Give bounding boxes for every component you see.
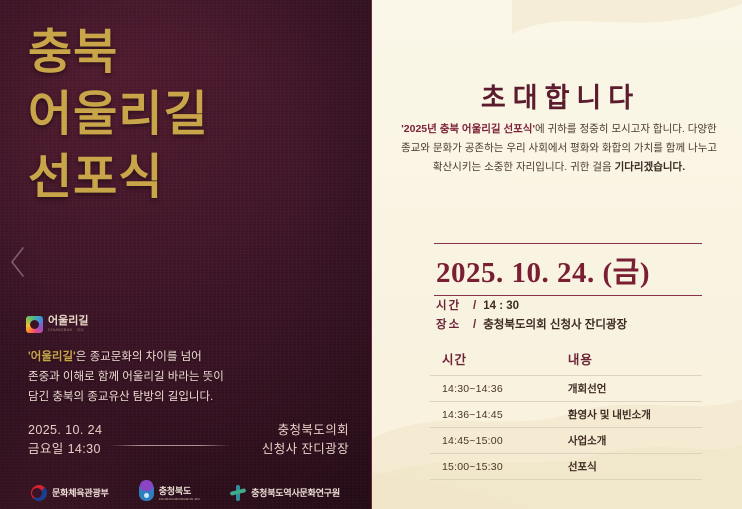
- detail-label: 시간: [436, 297, 470, 316]
- event-details: 시간 / 14 : 30 장소 / 충청북도의회 신청사 잔디광장: [436, 297, 627, 334]
- eoullligil-circle-logo-icon: [26, 316, 43, 333]
- sponsor-name: 충청북도역사문화연구원: [251, 486, 340, 499]
- top-wave-decoration: [512, 0, 742, 54]
- detail-row-time: 시간 / 14 : 30: [436, 297, 627, 316]
- cell-content: 선포식: [558, 454, 702, 480]
- sponsor-name: 문화체육관광부: [52, 486, 109, 499]
- footer-venue: 충청북도의회 신청사 잔디광장: [262, 421, 349, 460]
- chevron-left-icon[interactable]: [7, 245, 29, 279]
- mcst-taegeuk-logo-icon: [31, 485, 47, 501]
- sponsor-logo: 충청북도역사문화연구원: [230, 485, 340, 501]
- cell-content: 개회선언: [558, 376, 702, 402]
- invitation-part1: 에 귀하를 정중히 모시고자 합니다.: [535, 123, 685, 135]
- schedule-table-head: 시간 내용: [430, 348, 702, 376]
- table-row: 14:30~14:36 개회선언: [430, 376, 702, 402]
- sponsor-name-text: 충청북도: [159, 486, 191, 496]
- chungbuk-history-culture-institute-logo-icon: [230, 485, 246, 501]
- chungbuk-province-logo-icon: [139, 484, 154, 501]
- cell-content: 사업소개: [558, 428, 702, 454]
- brand-name: 어울리길: [48, 316, 88, 327]
- left-footer-block: 2025. 10. 24 금요일 14:30 충청북도의회 신청사 잔디광장: [0, 421, 371, 461]
- sponsor-name: 충청북도 CHUNGCHEONGBUK-DO: [159, 484, 200, 501]
- date-rule-bottom: [434, 295, 702, 296]
- poster-right-panel: 초대합니다 '2025년 충북 어울리길 선포식'에 귀하를 정중히 모시고자 …: [371, 0, 742, 509]
- event-date: 2025. 10. 24. (금): [434, 244, 702, 295]
- schedule-table-wrap: 시간 내용 14:30~14:36 개회선언 14:36~14:45 환영사 및…: [430, 348, 702, 480]
- poster-left-panel: 충북 어울리길 선포식 어울리길 CHUNGBUK · GIL '어울리길'은 …: [0, 0, 371, 509]
- footer-date: 2025. 10. 24 금요일 14:30: [28, 421, 102, 460]
- invitation-heading: 초대합니다: [372, 76, 742, 115]
- invitation-event-name: '2025년 충북 어울리길 선포식': [401, 123, 535, 135]
- detail-value: 14 : 30: [483, 297, 519, 316]
- page-title: 충북 어울리길 선포식: [28, 22, 209, 209]
- detail-label: 장소: [436, 316, 470, 335]
- column-header-content: 내용: [558, 348, 702, 376]
- column-header-time: 시간: [430, 348, 558, 376]
- sponsor-logo: 충청북도 CHUNGCHEONGBUK-DO: [139, 484, 200, 501]
- footer-divider: [110, 445, 230, 446]
- sponsor-logo-bar: 문화체육관광부 충청북도 CHUNGCHEONGBUK-DO 충청북도역사문화연…: [0, 484, 371, 501]
- table-row: 15:00~15:30 선포식: [430, 454, 702, 480]
- detail-value: 충청북도의회 신청사 잔디광장: [483, 316, 627, 335]
- invitation-closing: 기다리겠습니다.: [615, 161, 686, 173]
- brand-text-wrap: 어울리길 CHUNGBUK · GIL: [48, 316, 88, 333]
- detail-row-place: 장소 / 충청북도의회 신청사 잔디광장: [436, 316, 627, 335]
- detail-separator: /: [473, 316, 476, 335]
- table-header-row: 시간 내용: [430, 348, 702, 376]
- event-date-block: 2025. 10. 24. (금): [434, 243, 702, 296]
- sponsor-logo: 문화체육관광부: [31, 485, 109, 501]
- invitation-poster: 충북 어울리길 선포식 어울리길 CHUNGBUK · GIL '어울리길'은 …: [0, 0, 742, 509]
- brand-subtitle: CHUNGBUK · GIL: [48, 329, 88, 333]
- lead-description: '어울리길'은 종교문화의 차이를 넘어 존중과 이해로 함께 어울리길 바라는…: [28, 348, 224, 407]
- table-row: 14:36~14:45 환영사 및 내빈소개: [430, 402, 702, 428]
- cell-time: 14:45~15:00: [430, 428, 558, 454]
- eoullligil-brand-logo: 어울리길 CHUNGBUK · GIL: [26, 316, 88, 333]
- schedule-table-body: 14:30~14:36 개회선언 14:36~14:45 환영사 및 내빈소개 …: [430, 376, 702, 480]
- lead-highlight: '어울리길': [28, 351, 76, 363]
- invitation-body-text: '2025년 충북 어울리길 선포식'에 귀하를 정중히 모시고자 합니다. 다…: [396, 120, 722, 177]
- cell-time: 14:30~14:36: [430, 376, 558, 402]
- schedule-table: 시간 내용 14:30~14:36 개회선언 14:36~14:45 환영사 및…: [430, 348, 702, 480]
- sponsor-subtitle: CHUNGCHEONGBUK-DO: [159, 497, 200, 501]
- cell-content: 환영사 및 내빈소개: [558, 402, 702, 428]
- cell-time: 14:36~14:45: [430, 402, 558, 428]
- detail-separator: /: [473, 297, 476, 316]
- table-row: 14:45~15:00 사업소개: [430, 428, 702, 454]
- cell-time: 15:00~15:30: [430, 454, 558, 480]
